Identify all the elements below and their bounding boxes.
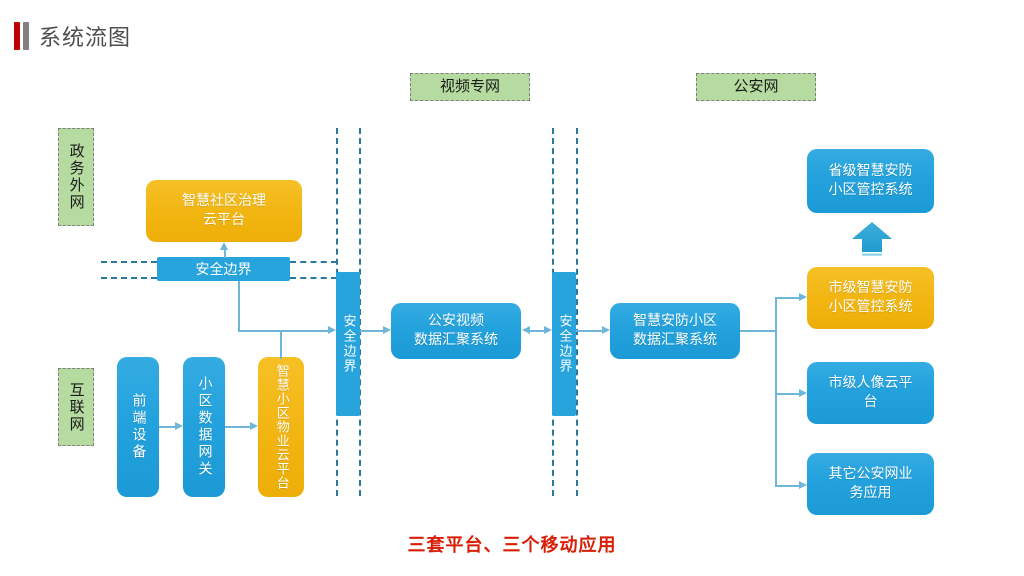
node-front-end-device[interactable]: 前端设备 xyxy=(117,357,159,497)
zone-tag-video-network: 视频专网 xyxy=(410,73,530,101)
node-province-control-system-line2: 小区管控系统 xyxy=(829,181,913,200)
connector-fanout-bus xyxy=(775,297,777,487)
connector-police-boundary-to-security-aggregation xyxy=(576,330,602,332)
connector-video-boundary-to-aggregation xyxy=(360,330,383,332)
connector-video-boundary-to-aggregation-arrow-icon xyxy=(383,326,391,334)
node-police-video-aggregation-line1: 公安视频 xyxy=(428,312,484,331)
footer-caption-text: 三套平台、三个移动应用 xyxy=(408,535,617,556)
diagram-canvas: 系统流图 视频专网 公安网 政务外网 互联网 安全边界 安全边界 安全边界 智慧… xyxy=(0,0,1024,576)
connector-gateway-to-property xyxy=(225,426,250,428)
node-community-property-cloud[interactable]: 智慧小区物业云平台 xyxy=(258,357,304,497)
security-boundary-horizontal-label: 安全边界 xyxy=(196,259,252,279)
node-smart-security-aggregation[interactable]: 智慧安防小区 数据汇聚系统 xyxy=(610,303,740,359)
connector-branch-other-apps xyxy=(775,485,799,487)
connector-video-aggregation-to-police-boundary xyxy=(530,330,544,332)
connector-boundary-to-governance-stem xyxy=(224,249,226,258)
zone-tag-police-network: 公安网 xyxy=(696,73,816,101)
node-other-police-apps[interactable]: 其它公安网业 务应用 xyxy=(807,453,934,515)
connector-junction-up-to-boundary xyxy=(238,281,240,331)
network-separator-police-right xyxy=(576,128,578,496)
boundary-dash-right-bottom xyxy=(290,277,337,279)
node-province-control-system[interactable]: 省级智慧安防 小区管控系统 xyxy=(807,149,934,213)
connector-device-to-gateway-arrow-icon xyxy=(175,422,183,430)
zone-tag-police-network-label: 公安网 xyxy=(733,78,778,95)
node-other-police-apps-line2: 务应用 xyxy=(850,484,892,503)
node-city-control-system[interactable]: 市级智慧安防 小区管控系统 xyxy=(807,267,934,329)
node-community-data-gateway[interactable]: 小区数据网关 xyxy=(183,357,225,497)
connector-security-aggregation-out xyxy=(740,330,776,332)
zone-tag-government-extranet-label: 政务外网 xyxy=(67,143,84,211)
connector-police-boundary-to-security-aggregation-arrow-icon xyxy=(602,326,610,334)
zone-tag-video-network-label: 视频专网 xyxy=(440,78,500,95)
zone-tag-internet-label: 互联网 xyxy=(67,382,84,433)
connector-branch-city-control-arrow-icon xyxy=(799,293,807,301)
node-community-property-cloud-label: 智慧小区物业云平台 xyxy=(272,364,290,490)
security-boundary-video: 安全边界 xyxy=(336,272,360,416)
security-boundary-video-label: 安全边界 xyxy=(339,314,358,374)
node-community-data-gateway-label: 小区数据网关 xyxy=(195,376,214,478)
connector-branch-portrait-cloud-arrow-icon xyxy=(799,389,807,397)
node-city-control-system-line1: 市级智慧安防 xyxy=(829,279,913,298)
node-police-video-aggregation[interactable]: 公安视频 数据汇聚系统 xyxy=(391,303,521,359)
node-city-portrait-cloud-line2: 台 xyxy=(864,393,878,412)
connector-video-aggregation-arrow-right-icon xyxy=(544,326,552,334)
footer-caption: 三套平台、三个移动应用 xyxy=(0,531,1024,557)
node-city-control-system-line2: 小区管控系统 xyxy=(829,298,913,317)
connector-branch-portrait-cloud xyxy=(775,393,799,395)
node-city-portrait-cloud[interactable]: 市级人像云平 台 xyxy=(807,362,934,424)
zone-tag-internet: 互联网 xyxy=(58,368,94,446)
connector-branch-city-control xyxy=(775,297,799,299)
security-boundary-police: 安全边界 xyxy=(552,272,576,416)
security-boundary-police-label: 安全边界 xyxy=(555,314,574,374)
node-community-governance-cloud[interactable]: 智慧社区治理 云平台 xyxy=(146,180,302,242)
node-front-end-device-label: 前端设备 xyxy=(129,393,148,461)
connector-junction-left xyxy=(238,330,282,332)
block-arrow-up-icon xyxy=(852,222,892,258)
connector-branch-other-apps-arrow-icon xyxy=(799,481,807,489)
connector-property-up xyxy=(280,330,282,359)
connector-device-to-gateway xyxy=(159,426,175,428)
zone-tag-government-extranet: 政务外网 xyxy=(58,128,94,226)
node-city-portrait-cloud-line1: 市级人像云平 xyxy=(829,374,913,393)
page-title-text: 系统流图 xyxy=(39,20,131,52)
title-accent-bars xyxy=(14,21,29,51)
node-smart-security-aggregation-line1: 智慧安防小区 xyxy=(633,312,717,331)
connector-video-aggregation-arrow-left-icon xyxy=(522,326,530,334)
node-province-control-system-line1: 省级智慧安防 xyxy=(829,162,913,181)
title-bar-red-icon xyxy=(14,22,20,50)
node-community-governance-cloud-line1: 智慧社区治理 xyxy=(182,192,266,211)
node-police-video-aggregation-line2: 数据汇聚系统 xyxy=(414,331,498,350)
node-other-police-apps-line1: 其它公安网业 xyxy=(829,465,913,484)
title-bar-gray-icon xyxy=(23,22,29,50)
page-title: 系统流图 xyxy=(14,20,131,52)
boundary-dash-left-top xyxy=(101,261,157,263)
boundary-dash-right-top xyxy=(290,261,337,263)
connector-junction-to-video-boundary-arrow-icon xyxy=(328,326,336,334)
node-community-governance-cloud-line2: 云平台 xyxy=(203,211,245,230)
node-smart-security-aggregation-line2: 数据汇聚系统 xyxy=(633,331,717,350)
connector-boundary-to-governance-arrow-icon xyxy=(220,242,228,250)
connector-junction-to-video-boundary xyxy=(280,330,328,332)
boundary-dash-left-bottom xyxy=(101,277,157,279)
connector-gateway-to-property-arrow-icon xyxy=(250,422,258,430)
security-boundary-horizontal: 安全边界 xyxy=(157,257,290,281)
